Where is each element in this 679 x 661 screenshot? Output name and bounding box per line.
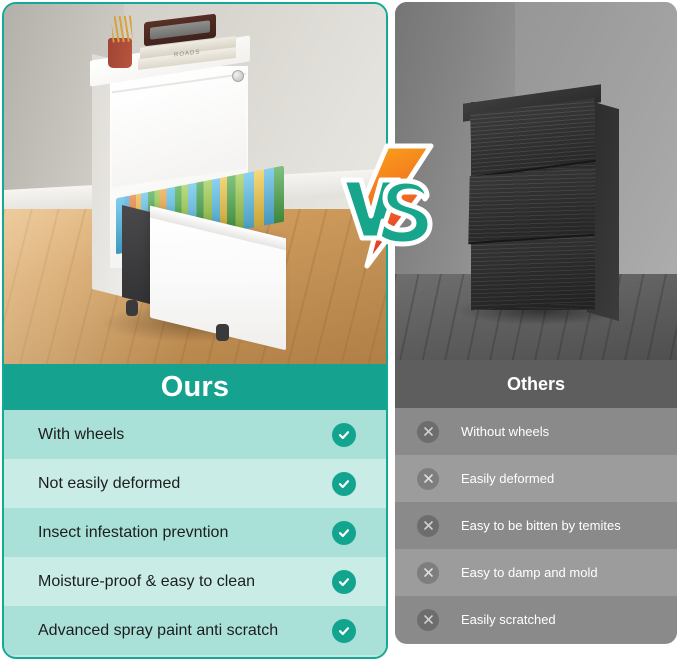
ours-feature-list: With wheels Not easily deformed Insect i…: [4, 410, 386, 655]
check-icon: [332, 619, 356, 643]
table-row: Moisture-proof & easy to clean: [4, 557, 386, 606]
table-row: Not easily deformed: [4, 459, 386, 508]
ours-header: Ours: [4, 364, 386, 410]
cabinet-lock-icon: [232, 70, 244, 82]
table-row: With wheels: [4, 410, 386, 459]
others-feature-label: Easily scratched: [461, 612, 556, 627]
comparison-infographic: ROADS Ours With wheels Not easily deform…: [0, 0, 679, 661]
check-icon: [332, 570, 356, 594]
caster-wheel: [126, 300, 138, 316]
others-feature-label: Easy to be bitten by temites: [461, 518, 621, 533]
ours-feature-label: Not easily deformed: [38, 475, 180, 493]
ours-card: ROADS Ours With wheels Not easily deform…: [2, 2, 388, 659]
warped-drawer: [471, 236, 595, 311]
others-feature-label: Easy to damp and mold: [461, 565, 598, 580]
check-icon: [332, 423, 356, 447]
others-feature-list: Without wheels Easily deformed Easy to b…: [395, 408, 677, 643]
cabinet-upper-drawer: [112, 73, 246, 188]
close-icon: [417, 609, 439, 631]
warped-drawer: [468, 168, 595, 244]
close-icon: [417, 421, 439, 443]
others-card: Others Without wheels Easily deformed Ea…: [395, 2, 677, 644]
pencils-icon: [111, 15, 132, 42]
ours-product-photo: ROADS: [4, 4, 386, 364]
table-row: Easily scratched: [395, 596, 677, 643]
others-header: Others: [395, 360, 677, 408]
check-icon: [332, 472, 356, 496]
table-row: Without wheels: [395, 408, 677, 455]
table-row: Easy to damp and mold: [395, 549, 677, 596]
table-row: Advanced spray paint anti scratch: [4, 606, 386, 655]
close-icon: [417, 515, 439, 537]
others-feature-label: Easily deformed: [461, 471, 554, 486]
ours-feature-label: Advanced spray paint anti scratch: [38, 622, 278, 640]
caster-wheel: [216, 324, 229, 341]
ours-feature-label: Moisture-proof & easy to clean: [38, 573, 255, 591]
others-header-label: Others: [507, 374, 565, 395]
others-feature-label: Without wheels: [461, 424, 549, 439]
table-row: Insect infestation prevntion: [4, 508, 386, 557]
table-row: Easy to be bitten by temites: [395, 502, 677, 549]
close-icon: [417, 468, 439, 490]
ours-feature-label: With wheels: [38, 426, 124, 444]
table-row: Easily deformed: [395, 455, 677, 502]
pencil-cup: [108, 38, 132, 68]
ours-feature-label: Insect infestation prevntion: [38, 524, 228, 542]
check-icon: [332, 521, 356, 545]
vs-badge: [335, 142, 445, 270]
ours-header-label: Ours: [161, 371, 230, 404]
close-icon: [417, 562, 439, 584]
